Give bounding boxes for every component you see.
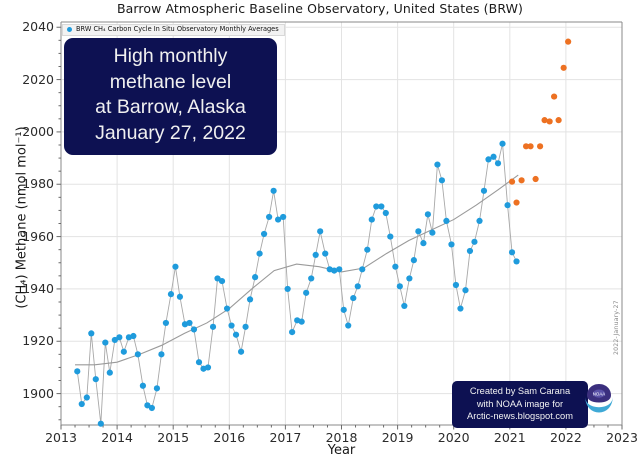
data-point bbox=[547, 118, 553, 124]
credit-callout: Created by Sam Carana with NOAA image fo… bbox=[452, 381, 588, 428]
x-tick-label: 2020 bbox=[424, 430, 484, 445]
data-point bbox=[210, 324, 216, 330]
data-point bbox=[499, 141, 505, 147]
data-point bbox=[490, 154, 496, 160]
data-point bbox=[336, 266, 342, 272]
data-point bbox=[364, 247, 370, 253]
y-tick-label: 1940 bbox=[0, 281, 54, 296]
data-point bbox=[406, 275, 412, 281]
data-point bbox=[163, 320, 169, 326]
annotation-callout: High monthly methane level at Barrow, Al… bbox=[64, 38, 277, 155]
data-point bbox=[88, 330, 94, 336]
data-point bbox=[233, 332, 239, 338]
data-point bbox=[196, 359, 202, 365]
y-tick-label: 1900 bbox=[0, 386, 54, 401]
series-connector-line bbox=[77, 144, 516, 424]
series-orange-markers bbox=[509, 39, 571, 206]
data-point bbox=[467, 248, 473, 254]
data-point bbox=[308, 275, 314, 281]
data-point bbox=[98, 421, 104, 427]
data-point bbox=[154, 385, 160, 391]
data-point bbox=[149, 405, 155, 411]
data-point bbox=[205, 364, 211, 370]
noaa-logo-icon: NOAA bbox=[582, 381, 616, 415]
data-point bbox=[378, 203, 384, 209]
data-point bbox=[476, 218, 482, 224]
x-tick-label: 2019 bbox=[368, 430, 428, 445]
data-point bbox=[116, 334, 122, 340]
data-point bbox=[495, 160, 501, 166]
data-point bbox=[453, 282, 459, 288]
data-point bbox=[121, 349, 127, 355]
data-point bbox=[107, 370, 113, 376]
data-point bbox=[513, 199, 519, 205]
x-tick-label: 2018 bbox=[312, 430, 372, 445]
noaa-logo-text: NOAA bbox=[593, 391, 606, 396]
data-point bbox=[369, 216, 375, 222]
data-point bbox=[509, 249, 515, 255]
data-point bbox=[280, 214, 286, 220]
x-axis-label: Year bbox=[61, 443, 622, 458]
data-point bbox=[219, 278, 225, 284]
data-point bbox=[186, 320, 192, 326]
data-point bbox=[439, 177, 445, 183]
data-point bbox=[285, 286, 291, 292]
data-point bbox=[341, 307, 347, 313]
data-point bbox=[411, 257, 417, 263]
chart-legend[interactable]: BRW CH₄ Carbon Cycle In Situ Observatory… bbox=[62, 24, 285, 36]
data-point bbox=[565, 39, 571, 45]
data-point bbox=[303, 290, 309, 296]
y-axis-label: (CH₄) Methane (nmol mol⁻¹) bbox=[15, 8, 30, 428]
annotation-line-3: at Barrow, Alaska bbox=[68, 95, 273, 121]
data-point bbox=[401, 303, 407, 309]
data-point bbox=[509, 179, 515, 185]
data-point bbox=[415, 228, 421, 234]
data-point bbox=[513, 258, 519, 264]
data-point bbox=[172, 264, 178, 270]
legend-entry-label: BRW CH₄ Carbon Cycle In Situ Observatory… bbox=[76, 26, 279, 33]
data-point bbox=[313, 252, 319, 258]
data-point bbox=[425, 211, 431, 217]
data-point bbox=[317, 228, 323, 234]
data-point bbox=[434, 162, 440, 168]
credit-line-3: Arctic-news.blogspot.com bbox=[455, 410, 585, 423]
data-point bbox=[443, 218, 449, 224]
data-point bbox=[238, 349, 244, 355]
data-point bbox=[191, 326, 197, 332]
data-point bbox=[74, 368, 80, 374]
data-point bbox=[471, 239, 477, 245]
x-tick-label: 2016 bbox=[199, 430, 259, 445]
data-point bbox=[93, 376, 99, 382]
side-date-stamp: 2022-January-27 bbox=[613, 275, 620, 355]
y-tick-label: 2040 bbox=[0, 19, 54, 34]
annotation-line-2: methane level bbox=[68, 70, 273, 96]
data-point bbox=[527, 143, 533, 149]
data-point bbox=[355, 283, 361, 289]
data-point bbox=[462, 287, 468, 293]
y-tick-label: 1980 bbox=[0, 176, 54, 191]
data-point bbox=[140, 383, 146, 389]
y-tick-label: 2020 bbox=[0, 72, 54, 87]
data-point bbox=[533, 176, 539, 182]
x-tick-label: 2021 bbox=[480, 430, 540, 445]
data-point bbox=[177, 294, 183, 300]
x-tick-label: 2023 bbox=[592, 430, 640, 445]
data-point bbox=[345, 322, 351, 328]
data-point bbox=[252, 274, 258, 280]
x-tick-label: 2022 bbox=[536, 430, 596, 445]
data-point bbox=[429, 230, 435, 236]
x-tick-label: 2014 bbox=[87, 430, 147, 445]
data-point bbox=[135, 351, 141, 357]
annotation-line-1: High monthly bbox=[68, 44, 273, 70]
chart-figure: Barrow Atmospheric Baseline Observatory,… bbox=[0, 0, 640, 463]
credit-line-2: with NOAA image for bbox=[455, 398, 585, 411]
data-point bbox=[261, 231, 267, 237]
data-point bbox=[556, 117, 562, 123]
data-point bbox=[448, 241, 454, 247]
data-point bbox=[256, 250, 262, 256]
data-point bbox=[271, 188, 277, 194]
data-point bbox=[457, 305, 463, 311]
x-tick-label: 2017 bbox=[255, 430, 315, 445]
data-point bbox=[387, 233, 393, 239]
data-point bbox=[224, 305, 230, 311]
data-point bbox=[392, 264, 398, 270]
y-tick-label: 1920 bbox=[0, 333, 54, 348]
data-point bbox=[168, 291, 174, 297]
data-point bbox=[130, 333, 136, 339]
annotation-line-4: January 27, 2022 bbox=[68, 121, 273, 147]
data-point bbox=[504, 202, 510, 208]
data-point bbox=[350, 295, 356, 301]
credit-line-1: Created by Sam Carana bbox=[455, 385, 585, 398]
data-point bbox=[84, 394, 90, 400]
x-tick-label: 2015 bbox=[143, 430, 203, 445]
data-point bbox=[322, 250, 328, 256]
data-point bbox=[518, 177, 524, 183]
data-point bbox=[481, 188, 487, 194]
trend-line bbox=[75, 175, 518, 365]
data-point bbox=[228, 322, 234, 328]
data-point bbox=[79, 401, 85, 407]
data-point bbox=[299, 319, 305, 325]
data-point bbox=[420, 240, 426, 246]
data-point bbox=[551, 93, 557, 99]
data-point bbox=[537, 143, 543, 149]
data-point bbox=[247, 296, 253, 302]
data-point bbox=[561, 65, 567, 71]
x-tick-label: 2013 bbox=[31, 430, 91, 445]
y-tick-label: 2000 bbox=[0, 124, 54, 139]
data-point bbox=[266, 214, 272, 220]
data-point bbox=[383, 210, 389, 216]
data-point bbox=[397, 283, 403, 289]
data-point bbox=[242, 324, 248, 330]
data-point bbox=[102, 339, 108, 345]
data-point bbox=[359, 266, 365, 272]
data-point bbox=[289, 329, 295, 335]
data-point bbox=[158, 351, 164, 357]
y-tick-label: 1960 bbox=[0, 229, 54, 244]
legend-marker-icon bbox=[67, 27, 72, 32]
